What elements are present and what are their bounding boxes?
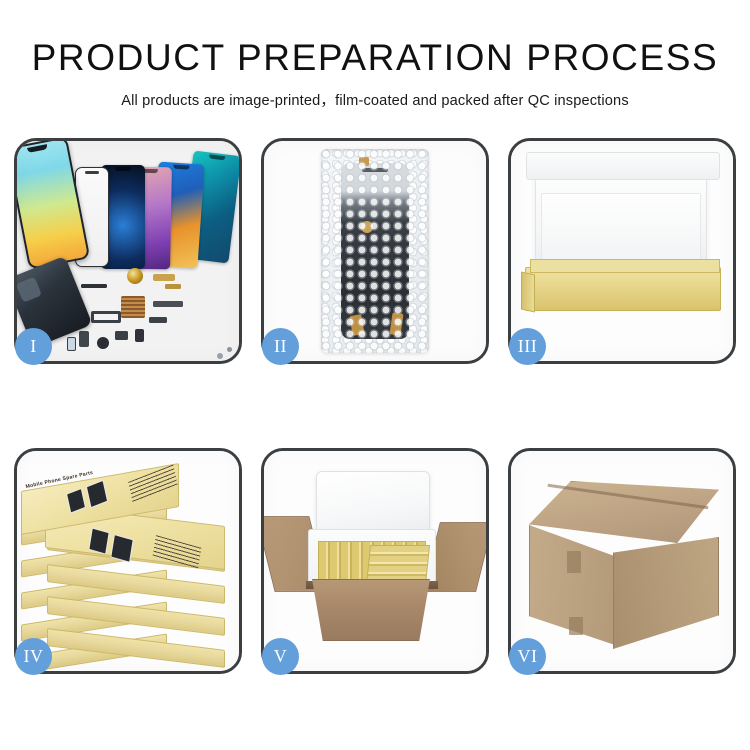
- product-preparation-infographic: PRODUCT PREPARATION PROCESS All products…: [0, 0, 750, 750]
- page-title: PRODUCT PREPARATION PROCESS: [0, 38, 750, 78]
- step-1-photo: [17, 141, 239, 361]
- process-step-4: Mobile Phone Spare Parts Mobile Phone Sp…: [14, 448, 242, 674]
- carton-top-face: [529, 481, 719, 543]
- process-step-3: III: [508, 138, 736, 364]
- process-step-2: II: [261, 138, 489, 364]
- camera-module-part: [97, 337, 109, 349]
- notch-icon: [115, 167, 131, 171]
- bracket-part: [91, 311, 121, 323]
- printed-spec-text: [153, 535, 202, 569]
- tape-piece: [359, 157, 369, 166]
- ribbon-cable-part: [153, 301, 183, 307]
- step-badge-1: I: [15, 328, 52, 365]
- packing-tape: [567, 551, 581, 573]
- process-step-grid: I II: [14, 138, 736, 674]
- printed-phone-image: [66, 488, 86, 514]
- step-5-photo: [264, 451, 486, 671]
- screw-part: [217, 353, 223, 359]
- connector-part: [135, 329, 144, 342]
- printed-phone-image: [110, 534, 134, 563]
- kraft-box-side-flap: [521, 272, 535, 313]
- tape-piece: [361, 221, 373, 233]
- printed-phone-image: [86, 480, 108, 509]
- process-step-6: VI: [508, 448, 736, 674]
- process-step-5: V: [261, 448, 489, 674]
- notch-icon: [209, 154, 225, 159]
- box-stack: Mobile Phone Spare Parts Mobile Phone Sp…: [17, 451, 239, 671]
- phone-screen-yellow-gradient: [17, 141, 90, 270]
- step-badge-3: III: [509, 328, 546, 365]
- carton-body: [304, 579, 438, 641]
- printed-phone-image: [88, 527, 109, 554]
- process-step-1: I: [14, 138, 242, 364]
- sim-tray-part: [67, 337, 76, 351]
- bubble-wrap-bag: [321, 149, 429, 353]
- small-module-part: [79, 331, 89, 347]
- packing-tape: [569, 617, 583, 635]
- flex-cable-part: [81, 284, 107, 288]
- screw-part: [227, 347, 232, 352]
- step-3-photo: [511, 141, 733, 361]
- chip-part: [115, 331, 128, 340]
- step-badge-4: IV: [15, 638, 52, 675]
- header: PRODUCT PREPARATION PROCESS All products…: [0, 0, 750, 110]
- step-badge-6: VI: [509, 638, 546, 675]
- antenna-flex-part: [149, 317, 167, 323]
- carton-right-face: [613, 537, 719, 649]
- copper-grid-part: [121, 296, 145, 318]
- gold-connector-part: [153, 274, 175, 281]
- page-subtitle: All products are image-printed，film-coat…: [0, 89, 750, 110]
- gold-contact-part: [165, 284, 181, 289]
- kraft-box-base: [525, 267, 721, 311]
- step-6-photo: [511, 451, 733, 671]
- notch-icon: [173, 165, 189, 170]
- step-2-photo: [264, 141, 486, 361]
- speaker-coil-part: [127, 268, 143, 284]
- step-badge-5: V: [262, 638, 299, 675]
- step-badge-2: II: [262, 328, 299, 365]
- printed-spec-text: [128, 465, 178, 503]
- step-4-photo: Mobile Phone Spare Parts Mobile Phone Sp…: [17, 451, 239, 671]
